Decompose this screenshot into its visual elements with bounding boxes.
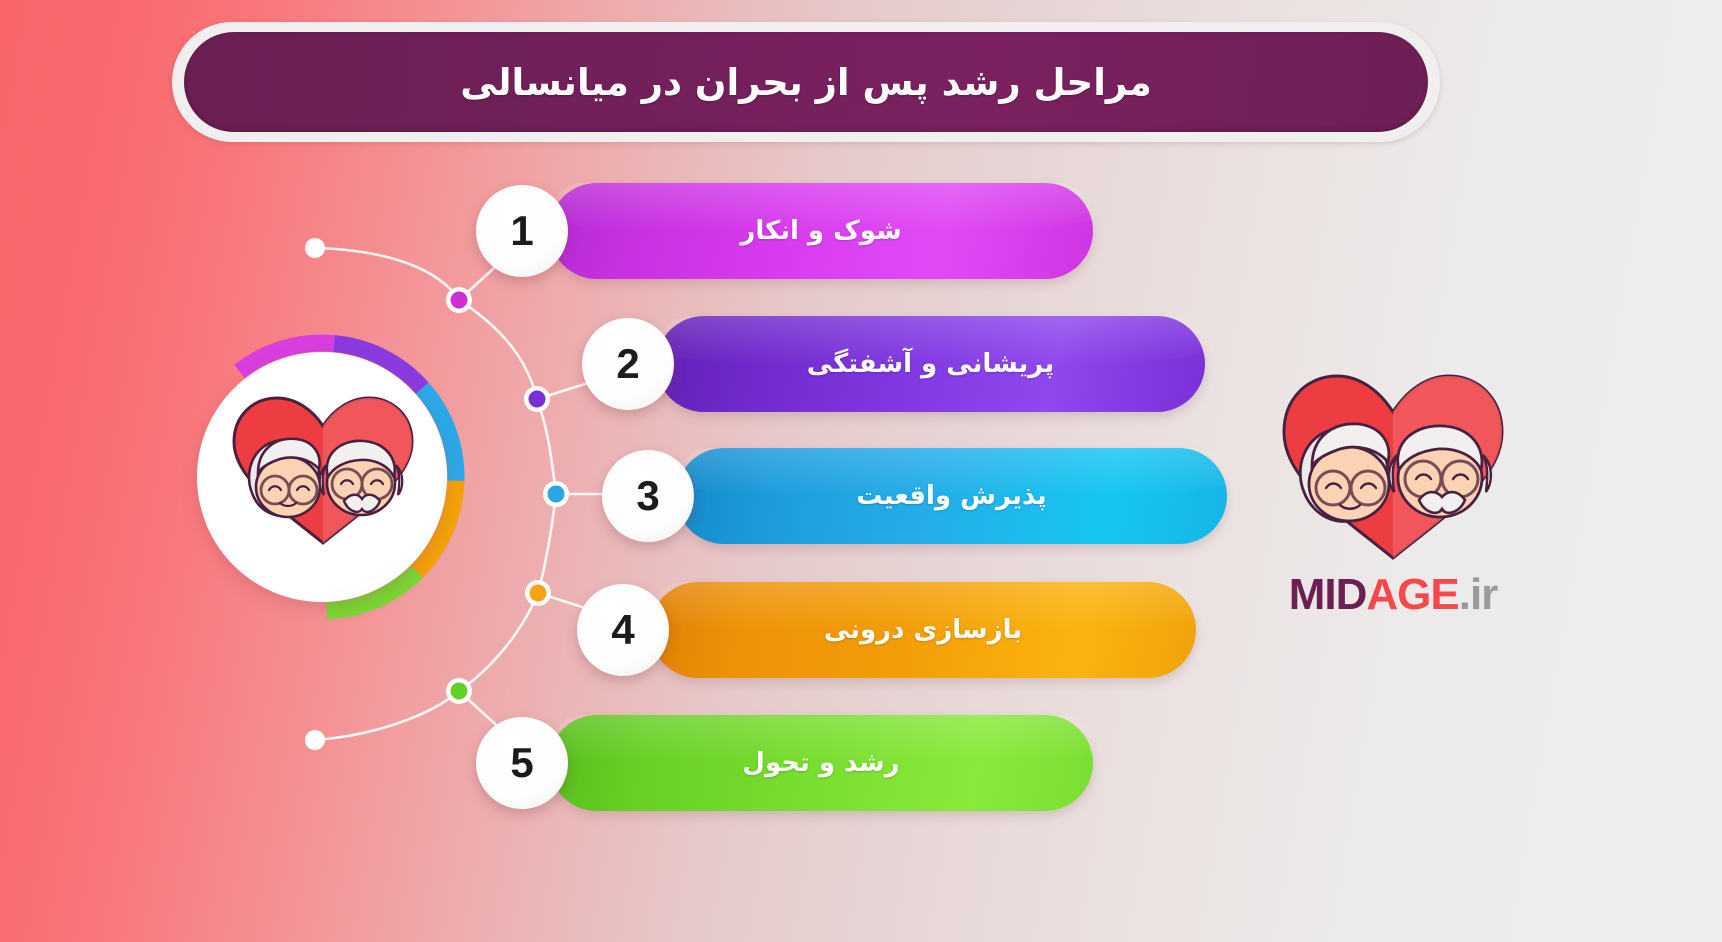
stage-bar-1[interactable]: شوک و انکار — [549, 183, 1093, 279]
stage-number-text-5: 5 — [510, 742, 533, 784]
stage-bar-2[interactable]: پریشانی و آشفتگی — [656, 316, 1205, 412]
stage-row-1: شوک و انکار 1 — [0, 183, 1722, 279]
title-banner: مراحل رشد پس از بحران در میانسالی — [184, 32, 1428, 132]
connector-node-1 — [446, 287, 472, 313]
stage-number-text-1: 1 — [510, 210, 533, 252]
stage-label-3: پذیرش واقعیت — [856, 481, 1047, 511]
stage-label-1: شوک و انکار — [740, 216, 901, 246]
stage-number-3[interactable]: 3 — [602, 450, 694, 542]
stage-bar-4[interactable]: بازسازی درونی — [650, 582, 1196, 678]
brand-wordmark: MIDAGE.ir — [1258, 570, 1528, 620]
stage-row-5: رشد و تحول 5 — [0, 715, 1722, 811]
stage-label-4: بازسازی درونی — [824, 615, 1022, 645]
stage-number-text-4: 4 — [611, 609, 634, 651]
stage-number-1[interactable]: 1 — [476, 185, 568, 277]
brand-tld: .ir — [1459, 570, 1498, 619]
stage-number-2[interactable]: 2 — [582, 318, 674, 410]
stage-label-5: رشد و تحول — [742, 748, 899, 778]
stage-number-text-3: 3 — [636, 475, 659, 517]
stage-number-4[interactable]: 4 — [577, 584, 669, 676]
stage-bar-3[interactable]: پذیرش واقعیت — [676, 448, 1227, 544]
brand-mid: MID — [1289, 570, 1367, 619]
connector-node-5 — [446, 678, 472, 704]
stage-number-text-2: 2 — [616, 343, 639, 385]
infographic-canvas: مراحل رشد پس از بحران در میانسالی — [0, 0, 1722, 942]
page-title: مراحل رشد پس از بحران در میانسالی — [460, 61, 1152, 104]
brand-block: MIDAGE.ir — [1258, 352, 1528, 662]
brand-age: AGE — [1366, 570, 1458, 619]
stage-label-2: پریشانی و آشفتگی — [807, 349, 1054, 379]
stage-bar-5[interactable]: رشد و تحول — [549, 715, 1093, 811]
title-banner-frame: مراحل رشد پس از بحران در میانسالی — [172, 22, 1440, 142]
brand-couple-heart-icon — [1266, 352, 1521, 567]
stage-number-5[interactable]: 5 — [476, 717, 568, 809]
